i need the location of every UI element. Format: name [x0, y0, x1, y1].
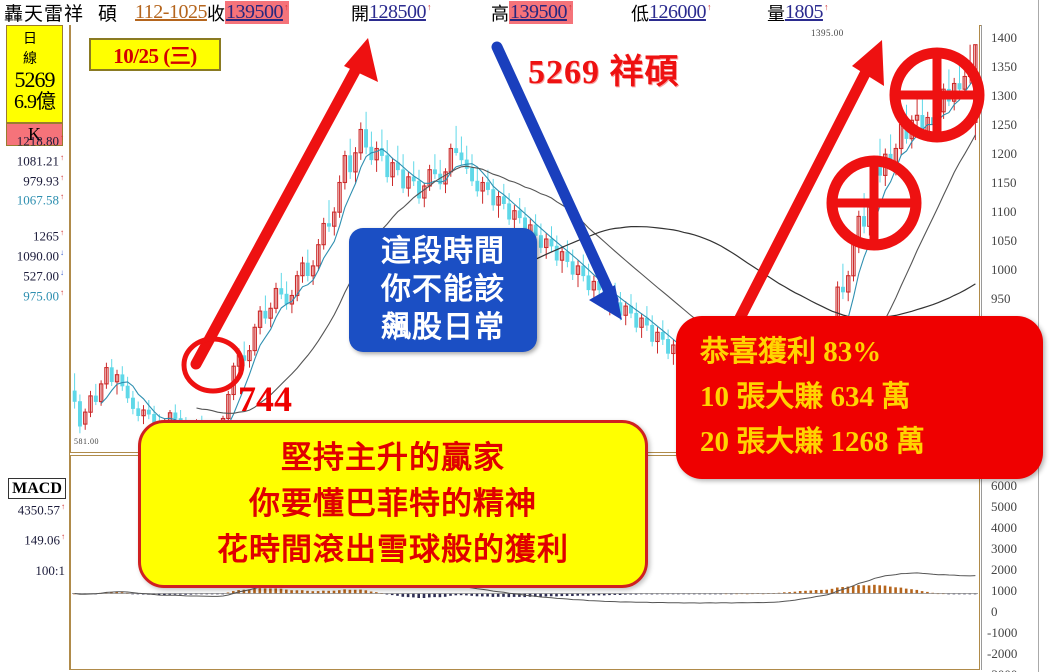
open-value: 128500	[369, 1, 431, 24]
ohlc-value-1: 1090.00	[17, 245, 64, 265]
macd-tick-neg3000: -3000	[987, 667, 1017, 672]
low-label: 低	[631, 0, 649, 26]
price-tick-1300: 1300	[991, 88, 1017, 104]
macd-panel-label: MACD	[8, 478, 66, 499]
quote-date-range: 112-1025	[135, 1, 207, 24]
chart-low-annotation: 581.00	[74, 437, 99, 446]
open-label: 開	[351, 0, 369, 26]
ma-value-2: 979.93	[17, 170, 64, 190]
blue-callout-line-1: 你不能該	[381, 271, 505, 309]
volume-value: 1805	[785, 1, 828, 24]
red-profit-line-2: 20 張大賺 1268 萬	[700, 420, 925, 465]
macd-tick-neg1000: -1000	[987, 625, 1017, 641]
left-info-panel: 日 線 5269 6.9億 K 1218.80 1081.21 979.93 1…	[0, 25, 70, 670]
red-profit-line-1: 10 張大賺 634 萬	[700, 375, 910, 420]
period-info-box: 日 線 5269 6.9億 K	[6, 25, 63, 123]
macd-tick-neg2000: -2000	[987, 646, 1017, 662]
macd-value-1: 149.06	[18, 532, 65, 548]
quote-bar: 轟天雷祥 碩 112-1025 收 139500 開 128500 高 1395…	[0, 0, 1050, 26]
macd-value-0: 4350.57	[18, 502, 65, 518]
price-tick-1400: 1400	[991, 30, 1017, 46]
price-tick-1200: 1200	[991, 146, 1017, 162]
low-value: 126000	[649, 1, 711, 24]
blue-callout-line-0: 這段時間	[381, 233, 505, 271]
yellow-advice-line-2: 花時間滾出雪球般的獲利	[217, 527, 569, 573]
blue-callout-line-2: 飆股日常	[381, 309, 505, 347]
price-tick-1250: 1250	[991, 117, 1017, 133]
blue-callout-box: 這段時間 你不能該 飆股日常	[349, 228, 537, 352]
ma-value-3: 1067.58	[17, 189, 64, 209]
stock-chart-screenshot: 轟天雷祥 碩 112-1025 收 139500 開 128500 高 1395…	[0, 0, 1050, 672]
stock-code: 5269	[7, 68, 62, 91]
macd-tick-0: 0	[991, 604, 998, 620]
ohlc-value-2: 527.00	[17, 265, 64, 285]
high-price-annotation: 1395.00	[811, 28, 844, 38]
price-tick-1050: 1050	[991, 233, 1017, 249]
stock-name: 轟天雷祥	[4, 0, 84, 26]
price-tick-1100: 1100	[991, 204, 1017, 220]
ma-value-list: 1218.80 1081.21 979.93 1067.58 1265 1090…	[17, 130, 64, 305]
close-value: 139500	[225, 1, 289, 24]
price-tick-1350: 1350	[991, 59, 1017, 75]
date-badge: 10/25 (三)	[89, 38, 221, 71]
ma-value-1: 1081.21	[17, 150, 64, 170]
period-label: 日 線	[7, 26, 62, 68]
macd-value-2: 100:1	[18, 563, 65, 579]
ohlc-value-0: 1265	[17, 225, 64, 245]
macd-tick-2000: 2000	[991, 562, 1017, 578]
macd-tick-1000: 1000	[991, 583, 1017, 599]
chart-title: 5269 祥碩	[528, 44, 680, 93]
high-value: 139500	[509, 1, 573, 24]
red-profit-line-0: 恭喜獲利 83%	[700, 330, 881, 375]
high-label: 高	[491, 0, 509, 26]
ma-value-0: 1218.80	[17, 130, 64, 150]
stock-name-secondary: 碩	[98, 0, 117, 26]
yellow-advice-line-0: 堅持主升的贏家	[281, 435, 505, 481]
price-tick-1000: 1000	[991, 262, 1017, 278]
yellow-advice-box: 堅持主升的贏家 你要懂巴菲特的精神 花時間滾出雪球般的獲利	[138, 420, 648, 588]
price-tick-950: 950	[991, 291, 1011, 307]
ohlc-value-3: 975.00	[17, 285, 64, 305]
close-label: 收	[207, 0, 225, 26]
turnover-amount: 6.9億	[7, 91, 62, 113]
low-point-label: 744	[238, 378, 292, 420]
macd-tick-4000: 4000	[991, 520, 1017, 536]
macd-tick-6000: 6000	[991, 478, 1017, 494]
yellow-advice-line-1: 你要懂巴菲特的精神	[249, 481, 537, 527]
macd-tick-3000: 3000	[991, 541, 1017, 557]
macd-value-list: 4350.57 149.06 100:1	[18, 502, 65, 593]
macd-tick-5000: 5000	[991, 499, 1017, 515]
price-tick-1150: 1150	[991, 175, 1017, 191]
red-profit-box: 恭喜獲利 83% 10 張大賺 634 萬 20 張大賺 1268 萬	[676, 316, 1043, 479]
volume-label: 量	[767, 0, 785, 26]
